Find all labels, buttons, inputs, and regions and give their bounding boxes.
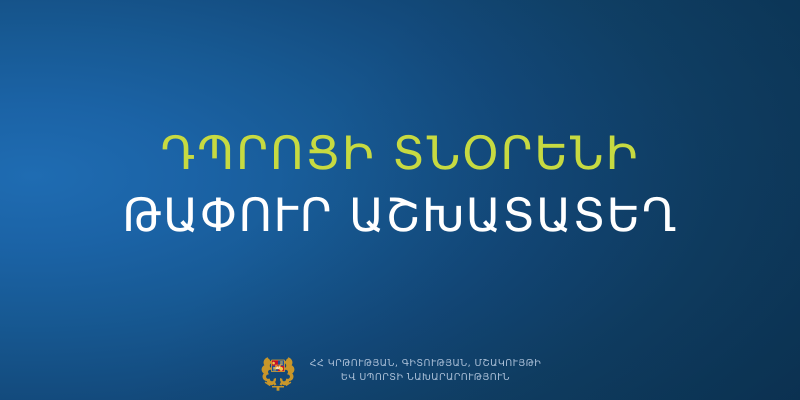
ministry-name: ՀՀ ԿՐԹՈՒԹՅԱՆ, ԳԻՏՈՒԹՅԱՆ, ՄՇԱԿՈՒՅԹԻ ԵՎ ՍՊ…: [310, 358, 541, 384]
ministry-name-line-2: ԵՎ ՍՊՈՐՏԻ ՆԱԽԱՐԱՐՈՒԹՅՈՒՆ: [341, 372, 510, 384]
announcement-banner: ԴՊՐՈՑԻ ՏՆՕՐԵՆԻ ԹԱՓՈՒՐ ԱՇԽԱՏԱՏԵՂ: [0, 0, 800, 400]
ministry-name-line-1: ՀՀ ԿՐԹՈՒԹՅԱՆ, ԳԻՏՈՒԹՅԱՆ, ՄՇԱԿՈՒՅԹԻ: [310, 358, 541, 370]
headline-block: ԴՊՐՈՑԻ ՏՆՕՐԵՆԻ ԹԱՓՈՒՐ ԱՇԽԱՏԱՏԵՂ: [0, 122, 800, 246]
footer: ՀՀ ԿՐԹՈՒԹՅԱՆ, ԳԻՏՈՒԹՅԱՆ, ՄՇԱԿՈՒՅԹԻ ԵՎ ՍՊ…: [0, 350, 800, 392]
headline-line-secondary: ԹԱՓՈՒՐ ԱՇԽԱՏԱՏԵՂ: [34, 184, 766, 246]
headline-line-primary: ԴՊՐՈՑԻ ՏՆՕՐԵՆԻ: [34, 122, 766, 184]
armenian-coat-of-arms-icon: [259, 350, 297, 392]
